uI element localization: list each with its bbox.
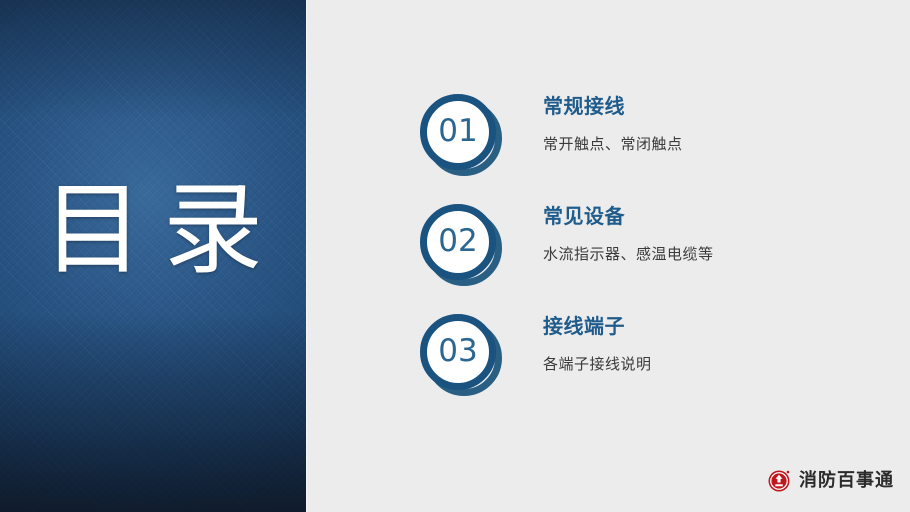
fire-safety-circle-icon <box>767 468 792 493</box>
toc-item-text-01: 常规接线 常开触点、常闭触点 <box>543 92 883 155</box>
panel-bottom-vignette <box>0 312 306 512</box>
table-of-contents-list: 01 常规接线 常开触点、常闭触点 02 常见设备 水流指示器、感温电缆等 03 <box>414 88 884 418</box>
toc-item-subtitle: 水流指示器、感温电缆等 <box>543 243 883 265</box>
number-badge-01[interactable]: 01 <box>420 94 496 170</box>
toc-item-title: 常见设备 <box>543 202 883 230</box>
number-badge-label: 02 <box>438 226 477 257</box>
toc-item-subtitle: 常开触点、常闭触点 <box>543 133 883 155</box>
brand-logo: 消防百事通 <box>767 468 894 493</box>
toc-item-text-02: 常见设备 水流指示器、感温电缆等 <box>543 202 883 265</box>
toc-item-03[interactable]: 03 接线端子 各端子接线说明 <box>414 308 884 418</box>
toc-item-subtitle: 各端子接线说明 <box>543 353 883 375</box>
number-badge-02[interactable]: 02 <box>420 204 496 280</box>
panel-divider <box>306 0 308 512</box>
panel-top-vignette <box>0 0 306 120</box>
slide-canvas: 目录 01 常规接线 常开触点、常闭触点 02 常见设备 水流指示器、感温电缆等 <box>0 0 910 512</box>
number-badge-label: 03 <box>438 336 477 367</box>
toc-item-title: 常规接线 <box>543 92 883 120</box>
toc-item-01[interactable]: 01 常规接线 常开触点、常闭触点 <box>414 88 884 198</box>
number-badge-03[interactable]: 03 <box>420 314 496 390</box>
number-badge-label: 01 <box>438 116 477 147</box>
left-title-panel: 目录 <box>0 0 306 512</box>
page-title: 目录 <box>0 172 306 288</box>
toc-item-text-03: 接线端子 各端子接线说明 <box>543 312 883 375</box>
toc-item-title: 接线端子 <box>543 312 883 340</box>
toc-item-02[interactable]: 02 常见设备 水流指示器、感温电缆等 <box>414 198 884 308</box>
brand-logo-text: 消防百事通 <box>799 471 894 491</box>
